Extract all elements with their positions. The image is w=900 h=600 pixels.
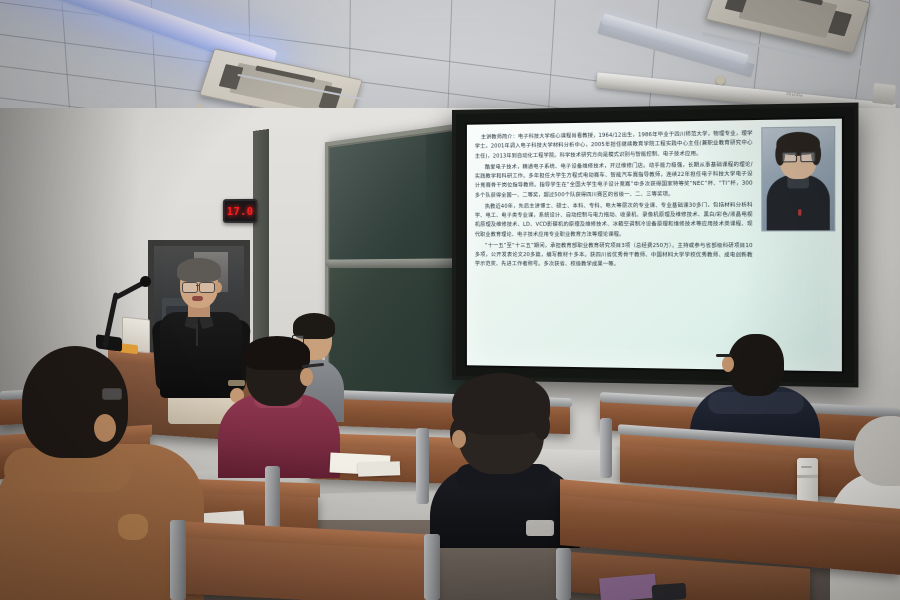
- slide-paragraph-4: “十一五”至“十三五”期间，承担教育部职业教育研究项目3项（总经费250万）。主…: [475, 242, 753, 271]
- portrait-photo: [761, 126, 835, 231]
- presenter-glasses-bridge: [196, 285, 200, 286]
- phone-device: [651, 583, 686, 600]
- bench-row1-right-frame: [556, 548, 571, 600]
- audience-1-forearm: [118, 514, 148, 540]
- audience-person-dark-curly: [430, 378, 580, 538]
- audience-6-head: [854, 416, 900, 486]
- bench-row1-frame-left: [170, 520, 186, 600]
- led-digits: 17.0: [227, 205, 254, 216]
- slide-paragraph-3: 执教近40年，先后主讲博士、硕士、本科、专科、电大等层次的专业课、专业基础课30…: [475, 201, 753, 240]
- presenter-shirt-placket: [196, 324, 198, 346]
- sprinkler-head-icon: [716, 76, 725, 85]
- thermos-band: [797, 475, 818, 478]
- presenter-hair: [177, 258, 221, 282]
- presenter-ear: [214, 282, 222, 293]
- presenter-glasses-right-icon: [199, 282, 215, 293]
- slide-paragraph-2: 酷爱电子技术，精通电子系统、电子设备维修技术，开过维修门店。动手能力极强，长期从…: [475, 160, 753, 200]
- ceiling: ShunDa: [0, 0, 900, 118]
- audience-1-hair: [22, 346, 128, 458]
- seat-frame-post-3: [416, 428, 429, 504]
- audience-man-maroon-polo: [218, 340, 340, 470]
- lecture-hall-photo: ShunDa 17.0 主讲教师简介：电子科技大学核心课程肖看教授，1964/1…: [0, 0, 900, 600]
- slide-body-text: 主讲教师简介：电子科技大学核心课程肖看教授，1964/12出生，1986年毕业于…: [475, 129, 753, 272]
- thermos-label: [801, 466, 812, 468]
- audience-1-hand: [94, 414, 116, 442]
- roller-end-cap: [872, 83, 896, 105]
- portrait-glasses-left-icon: [782, 152, 797, 163]
- microphone-icon: [140, 276, 151, 287]
- audience-2-ear: [300, 368, 313, 386]
- audience-4-collar-detail: [526, 520, 554, 536]
- presenter-mouth: [192, 296, 203, 301]
- portrait-glasses-right-icon: [800, 152, 815, 163]
- bench-row1-frame-right: [424, 534, 440, 600]
- ceiling-ac-unit-right: [705, 0, 871, 54]
- seat-frame-post-4: [600, 418, 612, 478]
- notebook-paper-3: [358, 461, 400, 476]
- audience-4-hair-right: [534, 412, 550, 440]
- portrait-glasses-bridge: [795, 155, 800, 157]
- audience-2-hair: [244, 336, 310, 370]
- led-temperature-display: 17.0: [223, 199, 258, 223]
- audience-1-glasses-icon: [102, 388, 122, 400]
- presenter-glasses-left-icon: [182, 282, 198, 293]
- purple-folder: [599, 574, 657, 600]
- slide-paragraph-1: 主讲教师简介：电子科技大学核心课程肖看教授，1964/12出生，1986年毕业于…: [475, 129, 753, 161]
- audience-5-head: [728, 334, 784, 396]
- portrait-shirt-logo: [798, 209, 801, 215]
- audience-5-ear: [722, 356, 734, 372]
- audience-5-glasses-temple-icon: [716, 354, 732, 357]
- audience-4-ear: [452, 430, 466, 448]
